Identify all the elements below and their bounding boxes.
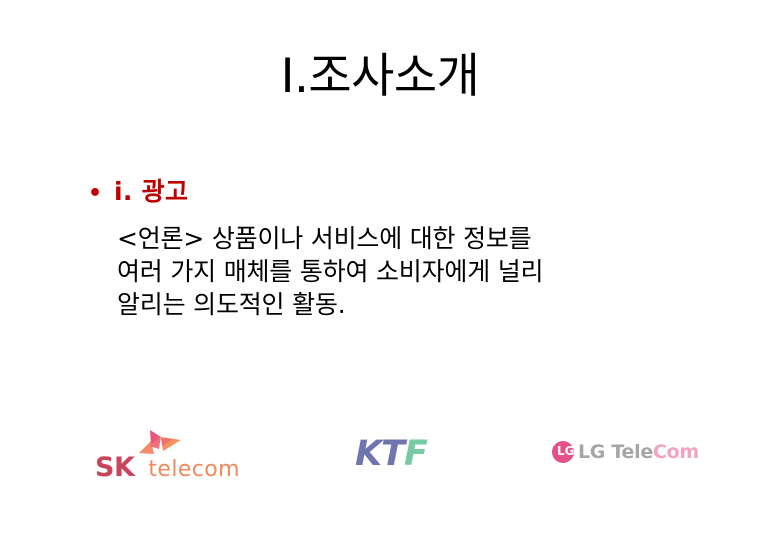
ktf-wordmark: KTF xyxy=(355,434,465,474)
lg-circle-mark-label: LG xyxy=(557,443,571,459)
slide-body: • i. 광고 <언론> 상품이나 서비스에 대한 정보를 여러 가지 매체를 … xyxy=(88,176,728,321)
bullet-item-label: i. 광고 xyxy=(114,176,188,208)
carrier-logo-strip: SKtelecom KTF LG LG TeleCom xyxy=(0,424,760,486)
slide-title: Ⅰ.조사소개 xyxy=(0,48,760,106)
paragraph-line-2: 여러 가지 매체를 통하여 소비자에게 널리 xyxy=(117,255,728,288)
definition-paragraph: <언론> 상품이나 서비스에 대한 정보를 여러 가지 매체를 통하여 소비자에… xyxy=(117,222,728,321)
sk-telecom-logo: SKtelecom xyxy=(95,424,275,486)
paragraph-line-1: <언론> 상품이나 서비스에 대한 정보를 xyxy=(117,222,728,255)
sk-telecom-wordmark: SKtelecom xyxy=(95,452,240,483)
bullet-item-advertising: • i. 광고 xyxy=(88,176,728,210)
ktf-primary-text: KT xyxy=(355,434,404,474)
lg-telecom-primary-text: LG Tele xyxy=(578,441,653,463)
paragraph-line-3: 알리는 의도적인 활동. xyxy=(117,288,728,321)
ktf-secondary-text: F xyxy=(404,434,427,474)
lg-telecom-secondary-text: Com xyxy=(653,441,699,463)
lg-telecom-wordmark: LG TeleCom xyxy=(578,441,699,463)
presentation-slide: Ⅰ.조사소개 • i. 광고 <언론> 상품이나 서비스에 대한 정보를 여러 … xyxy=(0,0,760,537)
bullet-point-icon: • xyxy=(88,178,114,210)
lg-telecom-logo: LG LG TeleCom xyxy=(552,440,712,502)
sk-telecom-primary-text: SK xyxy=(95,452,134,483)
sk-telecom-secondary-text: telecom xyxy=(148,457,240,482)
ktf-logo: KTF xyxy=(355,434,465,496)
